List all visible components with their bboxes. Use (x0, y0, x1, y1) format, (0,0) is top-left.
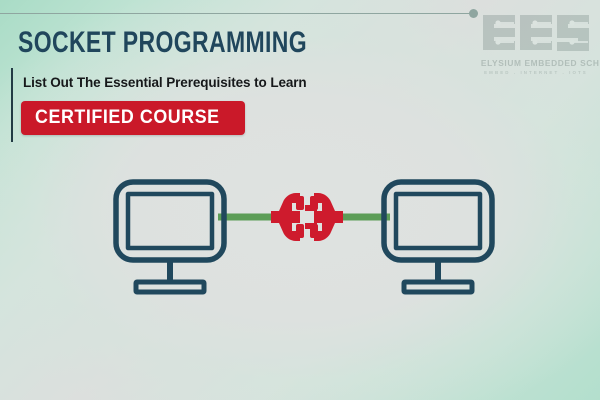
top-divider-line (0, 13, 474, 14)
socket-programming-banner: ELYSIUM EMBEDDED SCHOOL EMBED . INTERNET… (0, 0, 600, 400)
ees-logo-mark-icon (482, 14, 590, 56)
status-badge-label: CERTIFIED COURSE (35, 108, 220, 127)
brand-logo: ELYSIUM EMBEDDED SCHOOL EMBED . INTERNET… (482, 14, 590, 75)
top-divider-dot-icon (469, 9, 478, 18)
socket-plug-connector-icon (271, 193, 343, 241)
accent-bar (11, 68, 13, 142)
subtitle: List Out The Essential Prerequisites to … (23, 76, 307, 90)
monitor-right-icon (384, 182, 492, 292)
logo-school-name: ELYSIUM EMBEDDED SCHOOL (481, 59, 591, 68)
logo-tagline: EMBED . INTERNET . IOTS (482, 70, 590, 75)
socket-connection-illustration (100, 160, 500, 300)
monitor-left-icon (116, 182, 224, 292)
page-title: SOCKET PROGRAMMING (18, 28, 307, 58)
status-badge: CERTIFIED COURSE (21, 101, 245, 135)
